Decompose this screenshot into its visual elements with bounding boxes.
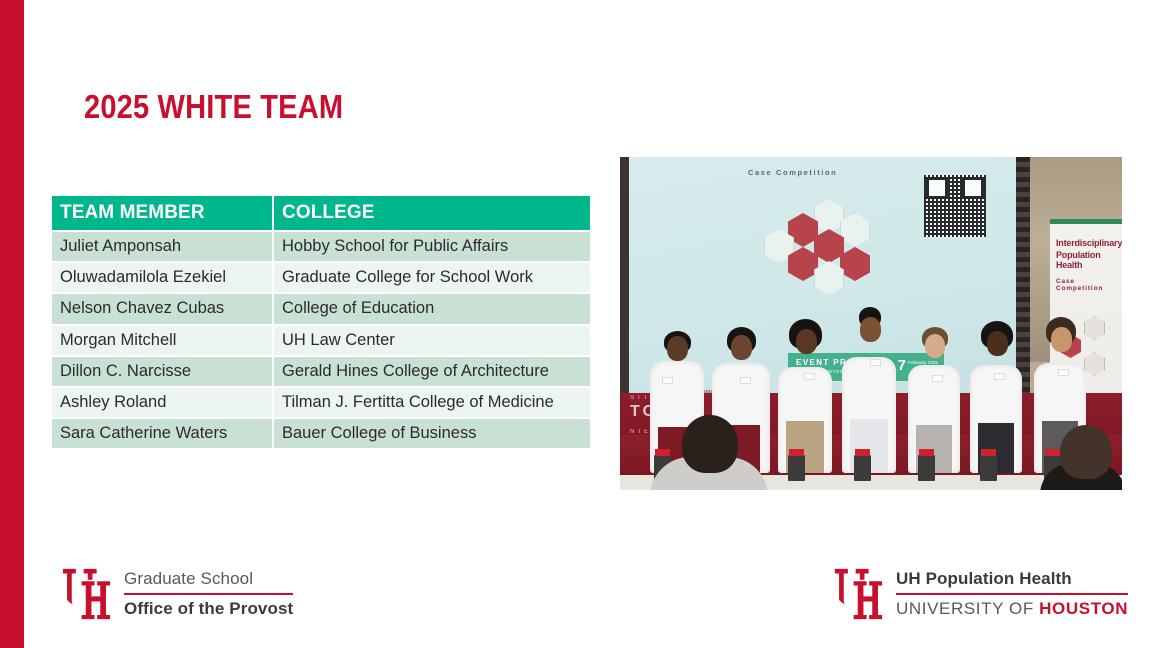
uh-monogram-icon bbox=[60, 566, 112, 622]
cell-team-member: Oluwadamilola Ezekiel bbox=[52, 263, 274, 294]
table-row: Ashley Roland Tilman J. Fertitta College… bbox=[52, 388, 590, 419]
cell-team-member: Nelson Chavez Cubas bbox=[52, 294, 274, 325]
uh-monogram-icon bbox=[832, 566, 884, 622]
footer-logo-right-rule bbox=[896, 593, 1128, 595]
column-header-team-member: TEAM MEMBER bbox=[52, 196, 274, 232]
footer-logo-right-prefix: UNIVERSITY OF bbox=[896, 599, 1039, 618]
team-roster-table: TEAM MEMBER COLLEGE Juliet Amponsah Hobb… bbox=[52, 196, 590, 450]
cell-college: College of Education bbox=[274, 294, 590, 325]
column-header-college: COLLEGE bbox=[274, 196, 590, 232]
cell-team-member: Dillon C. Narcisse bbox=[52, 357, 274, 388]
table-body: Juliet Amponsah Hobby School for Public … bbox=[52, 232, 590, 450]
footer-logo-graduate-school: Graduate School Office of the Provost bbox=[60, 566, 293, 622]
cell-team-member: Morgan Mitchell bbox=[52, 326, 274, 357]
cell-college: UH Law Center bbox=[274, 326, 590, 357]
table-row: Oluwadamilola Ezekiel Graduate College f… bbox=[52, 263, 590, 294]
cell-college: Hobby School for Public Affairs bbox=[274, 232, 590, 263]
cell-college: Tilman J. Fertitta College of Medicine bbox=[274, 388, 590, 419]
team-photo: Case Competition UH Population Health UN… bbox=[620, 157, 1122, 490]
footer-logo-population-health: UH Population Health UNIVERSITY OF HOUST… bbox=[832, 566, 1128, 622]
team-member-figure bbox=[968, 319, 1024, 473]
cell-college: Bauer College of Business bbox=[274, 419, 590, 450]
footer-logo-right-text: UH Population Health UNIVERSITY OF HOUST… bbox=[896, 568, 1128, 619]
cell-college: Graduate College for School Work bbox=[274, 263, 590, 294]
footer-logo-left-line1: Graduate School bbox=[124, 568, 293, 590]
cell-team-member: Juliet Amponsah bbox=[52, 232, 274, 263]
table-header: TEAM MEMBER COLLEGE bbox=[52, 196, 590, 232]
footer-logo-right-line1: UH Population Health bbox=[896, 568, 1128, 590]
slide: 2025 WHITE TEAM TEAM MEMBER COLLEGE Juli… bbox=[0, 0, 1153, 648]
table-row: Morgan Mitchell UH Law Center bbox=[52, 326, 590, 357]
footer-logo-right-highlight: HOUSTON bbox=[1039, 599, 1128, 618]
screen-case-title: Case Competition bbox=[748, 168, 837, 177]
banner-line2: Population Health bbox=[1056, 250, 1122, 270]
cell-team-member: Ashley Roland bbox=[52, 388, 274, 419]
table-row: Dillon C. Narcisse Gerald Hines College … bbox=[52, 357, 590, 388]
banner-line3: Case Competition bbox=[1056, 278, 1122, 292]
footer-logo-left-line2: Office of the Provost bbox=[124, 598, 293, 620]
footer-logo-left-rule bbox=[124, 593, 293, 595]
team-member-figure bbox=[840, 307, 898, 473]
table-row: Sara Catherine Waters Bauer College of B… bbox=[52, 419, 590, 450]
table-row: Juliet Amponsah Hobby School for Public … bbox=[52, 232, 590, 263]
qr-code-icon bbox=[924, 175, 986, 237]
cell-college: Gerald Hines College of Architecture bbox=[274, 357, 590, 388]
table-header-row: TEAM MEMBER COLLEGE bbox=[52, 196, 590, 232]
cell-team-member: Sara Catherine Waters bbox=[52, 419, 274, 450]
table-row: Nelson Chavez Cubas College of Education bbox=[52, 294, 590, 325]
footer-logo-left-text: Graduate School Office of the Provost bbox=[124, 568, 293, 619]
hexagon-cluster-icon bbox=[776, 199, 886, 299]
page-title: 2025 WHITE TEAM bbox=[84, 88, 343, 126]
footer-logo-right-line2: UNIVERSITY OF HOUSTON bbox=[896, 598, 1128, 620]
banner-line1: Interdisciplinary bbox=[1056, 238, 1122, 248]
team-member-figure bbox=[776, 317, 834, 473]
team-member-figure bbox=[906, 321, 962, 473]
left-accent-bar bbox=[0, 0, 24, 648]
